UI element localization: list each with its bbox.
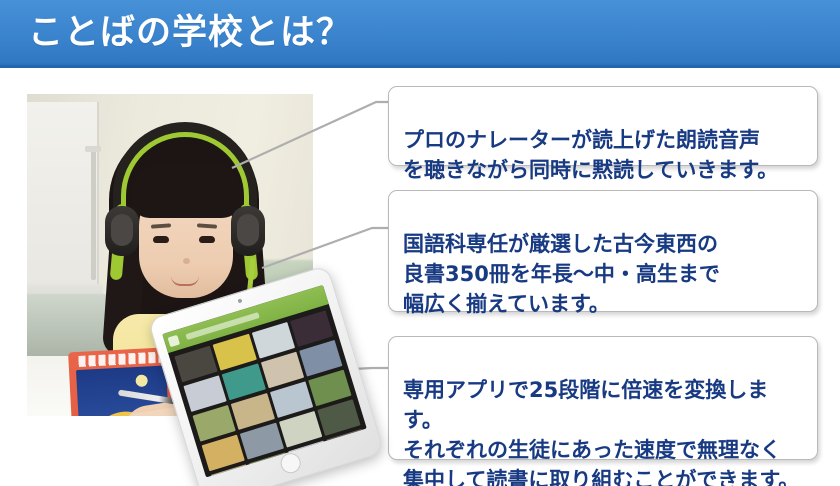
app-menu-icon [168, 335, 180, 347]
header-bar: ことばの学校とは？ [0, 0, 840, 68]
nose [183, 258, 190, 264]
callout-text-2: 国語科専任が厳選した古今東西の 良書350冊を年長〜中・高生まで 幅広く揃えてい… [403, 229, 807, 319]
whiteboard [27, 102, 99, 312]
callout-box-1: プロのナレーターが読上げた朗読音声 を聴きながら同時に黙読していきます。 [388, 86, 818, 166]
callout-text-1: プロのナレーターが読上げた朗読音声 を聴きながら同時に黙読していきます。 [403, 125, 807, 185]
callout-box-3: 専用アプリで25段階に倍速を変換します。 それぞれの生徒にあった速度で無理なく … [388, 336, 818, 460]
slide-root: ことばの学校とは？ [0, 0, 840, 486]
eye-right [199, 236, 215, 243]
book-cover-title [78, 352, 162, 367]
callout-text-3: 専用アプリで25段階に倍速を変換します。 それぞれの生徒にあった速度で無理なく … [403, 375, 807, 486]
headphone-cup-left [105, 206, 139, 256]
headphone-cup-right [231, 206, 265, 256]
eye-left [153, 236, 169, 243]
page-title: ことばの学校とは？ [28, 9, 352, 57]
callout-box-2: 国語科専任が厳選した古今東西の 良書350冊を年長〜中・高生まで 幅広く揃えてい… [388, 190, 818, 312]
